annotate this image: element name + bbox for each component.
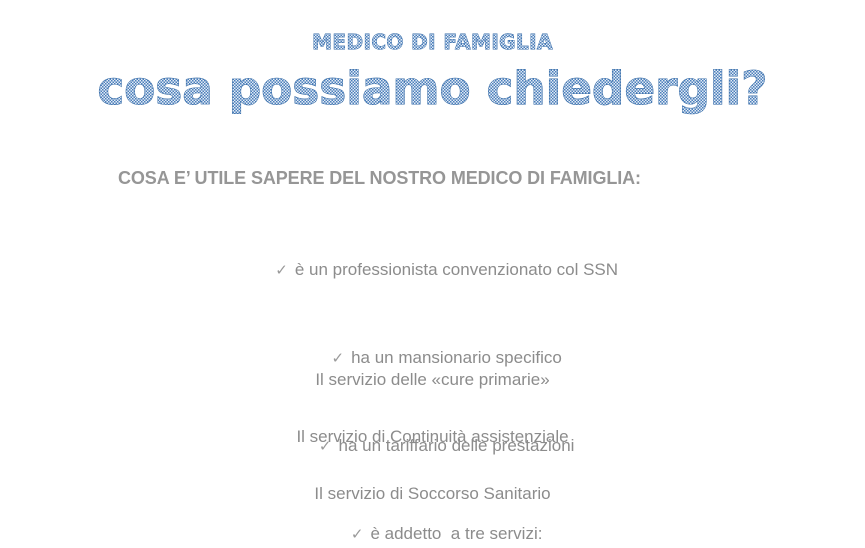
slide-canvas: MEDICO DI FAMIGLIA MEDICO DI FAMIGLIA co… <box>0 0 865 548</box>
list-item: ✓è un professionista convenzionato col S… <box>0 226 865 314</box>
checkmark-icon: ✓ <box>275 261 288 279</box>
checkmark-icon: ✓ <box>332 349 345 367</box>
eyebrow-title: MEDICO DI FAMIGLIA <box>0 30 865 54</box>
service-item: Il servizio delle «cure primarie» <box>0 370 865 427</box>
service-item: Il servizio di Continuità assistenziale <box>0 427 865 484</box>
list-item-label: ha un mansionario specifico <box>351 348 562 367</box>
subheading: COSA E’ UTILE SAPERE DEL NOSTRO MEDICO D… <box>118 168 641 189</box>
service-item: Il servizio di Soccorso Sanitario <box>0 484 865 541</box>
headline: cosa possiamo chiedergli? <box>0 62 865 115</box>
services-list: Il servizio delle «cure primarie» Il ser… <box>0 370 865 541</box>
list-item-label: è un professionista convenzionato col SS… <box>295 260 618 279</box>
